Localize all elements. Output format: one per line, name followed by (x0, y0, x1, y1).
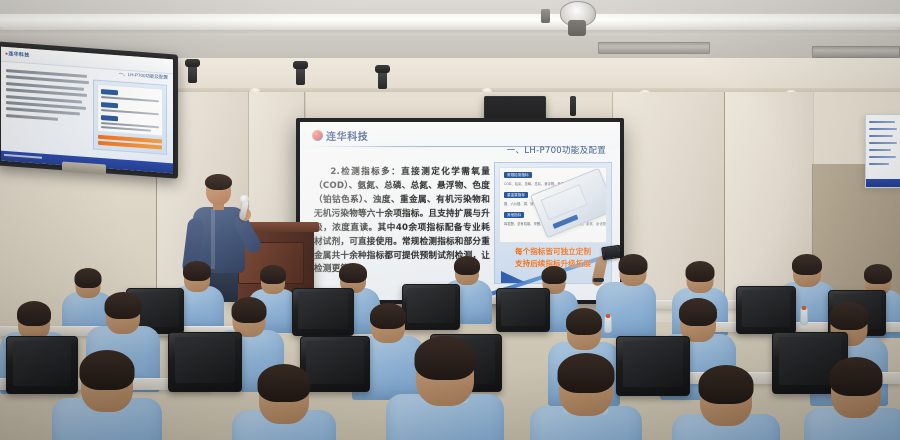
attendee-hair (232, 297, 267, 323)
attendee-monitor (736, 286, 796, 334)
attendee-hair (558, 353, 615, 393)
logo-mark-icon (312, 130, 323, 141)
attendee-hair (258, 364, 311, 402)
ceiling-rail (0, 30, 900, 35)
attendee (232, 366, 336, 440)
attendee-hair (17, 301, 51, 326)
attendee-hair (260, 265, 286, 284)
track-spotlight-icon (188, 64, 197, 83)
attendee (530, 356, 642, 440)
attendee (52, 352, 162, 440)
slide-section-title: 一、LH-P700功能及配置 (507, 144, 606, 156)
spec-card: 常规检测指标 COD、氨氮、总磷、总氮、悬浮物、色度、浊度 重金属指标 铬、六价… (499, 167, 607, 243)
analyzer-device-image (530, 168, 607, 238)
attendee-hair (830, 357, 883, 396)
attendee-monitor (168, 332, 242, 392)
attendee (386, 340, 504, 440)
wall-poster (865, 114, 900, 188)
left-slide-panel (93, 79, 167, 154)
attendee-monitor (496, 288, 550, 332)
av-mount-arm (570, 96, 576, 116)
left-slide-card (97, 84, 163, 137)
attendee-hair (864, 264, 892, 284)
left-wall-display[interactable]: ●连华科技 一、LH-P700功能及配置 (0, 41, 178, 178)
attendee-hair (619, 254, 648, 275)
attendee-hair (542, 266, 567, 284)
attendee (672, 368, 780, 440)
microphone-head (240, 195, 249, 203)
poster-footer-bar (866, 179, 900, 187)
attendee-hair (370, 303, 406, 329)
led-strip-light (0, 14, 900, 27)
left-display-slide: ●连华科技 一、LH-P700功能及配置 (1, 47, 173, 174)
attendee-hair (566, 308, 602, 335)
wristwatch (593, 278, 604, 282)
company-name: 连华科技 (326, 128, 368, 143)
attendee-hair (339, 263, 367, 283)
attendee (804, 360, 900, 440)
attendee-monitor (292, 288, 354, 336)
air-vent (812, 46, 900, 58)
track-spotlight-icon (296, 66, 305, 85)
attendee-hair (105, 292, 142, 319)
track-spotlight-icon (378, 70, 387, 89)
device-screen (540, 184, 587, 220)
attendee-hair (792, 254, 822, 275)
highlight-line-1: 每个指标皆可独立定制 (495, 246, 611, 257)
attendee-hair (454, 256, 480, 275)
ceiling-sensor-icon (541, 9, 550, 23)
dome-camera-mount (568, 20, 586, 36)
attendee-hair (699, 365, 754, 404)
spec-group-chip: 常规检测指标 (504, 172, 532, 178)
presenter-shirt-placket (211, 209, 215, 269)
spec-group-chip: 其他指标 (504, 212, 524, 218)
water-bottle (800, 308, 808, 325)
smartphone-icon (601, 245, 622, 261)
company-logo: 连华科技 (312, 128, 368, 143)
spec-group-chip: 重金属指标 (504, 192, 528, 198)
attendee-hair (830, 302, 869, 330)
left-slide-paragraph (6, 69, 90, 126)
attendee-hair (679, 298, 717, 326)
attendee-hair (686, 261, 715, 282)
air-vent (598, 42, 710, 54)
attendee-hair (415, 336, 476, 380)
presenter-hair (205, 174, 232, 190)
conference-room-photo: ●连华科技 一、LH-P700功能及配置 (0, 0, 900, 440)
attendee-hair (80, 350, 135, 390)
attendee-hair (75, 268, 102, 288)
attendee-hair (183, 261, 211, 281)
